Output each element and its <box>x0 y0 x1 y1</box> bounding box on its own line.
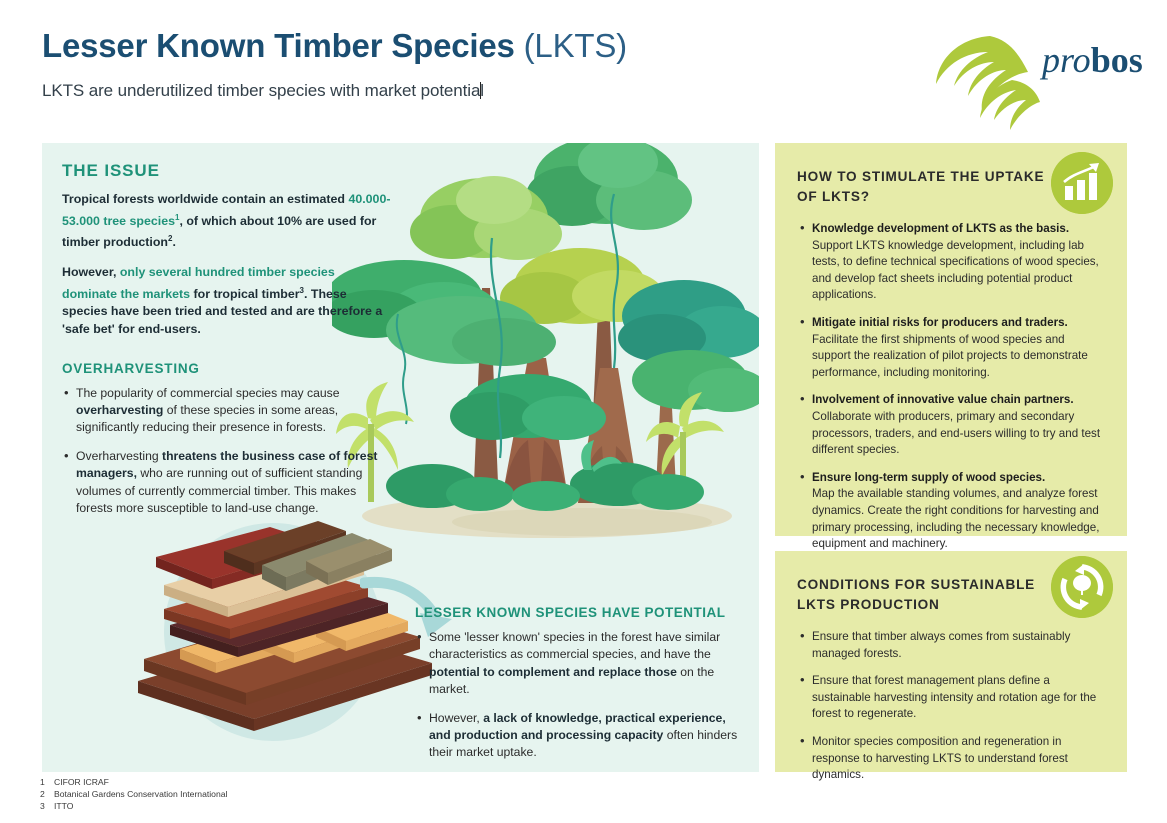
bullet-pre: Overharvesting <box>76 449 162 463</box>
bullet-bold: Involvement of innovative value chain pa… <box>812 393 1074 406</box>
overharvesting-bullet-list: The popularity of commercial species may… <box>62 385 392 518</box>
bullet-pre: The popularity of commercial species may… <box>76 386 340 400</box>
bullet-text: Monitor species composition and regenera… <box>812 735 1068 781</box>
probos-wordmark: probos <box>1042 40 1143 80</box>
uptake-bullet-list: Knowledge development of LKTS as the bas… <box>797 221 1103 553</box>
footnote-text: ITTO <box>54 801 73 811</box>
overharvesting-block: OVERHARVESTING The popularity of commerc… <box>62 361 392 518</box>
logo-text-bos: bos <box>1091 40 1143 80</box>
footnotes: 1CIFOR ICRAF 2Botanical Gardens Conserva… <box>40 776 540 813</box>
issue-paragraph-1: Tropical forests worldwide contain an es… <box>62 191 392 252</box>
list-item: Involvement of innovative value chain pa… <box>797 392 1103 458</box>
potential-block: LESSER KNOWN SPECIES HAVE POTENTIAL Some… <box>415 605 740 772</box>
footnote-number: 3 <box>40 800 54 812</box>
bullet-pre: Some 'lesser known' species in the fores… <box>429 630 720 661</box>
uptake-heading: HOW TO STIMULATE THE UPTAKE OF LKTS? <box>797 167 1047 207</box>
probos-swoosh-logo-icon <box>932 30 1042 138</box>
conditions-panel: CONDITIONS FOR SUSTAINABLE LKTS PRODUCTI… <box>775 551 1127 772</box>
potential-bullet-list: Some 'lesser known' species in the fores… <box>415 629 740 762</box>
bullet-text: Ensure that forest management plans defi… <box>812 674 1096 720</box>
footnote-item: 3ITTO <box>40 800 540 812</box>
list-item: Mitigate initial risks for producers and… <box>797 315 1103 381</box>
footnote-item: 2Botanical Gardens Conservation Internat… <box>40 788 540 800</box>
page-title-main: Lesser Known Timber Species <box>42 27 515 64</box>
issue-p2-pre: However, <box>62 265 120 279</box>
footnote-text: CIFOR ICRAF <box>54 777 109 787</box>
list-item: Some 'lesser known' species in the fores… <box>415 629 740 699</box>
footnote-item: 1CIFOR ICRAF <box>40 776 540 788</box>
list-item: Knowledge development of LKTS as the bas… <box>797 221 1103 304</box>
footnote-text: Botanical Gardens Conservation Internati… <box>54 789 227 799</box>
bullet-text: Ensure that timber always comes from sus… <box>812 630 1070 660</box>
conditions-bullet-list: Ensure that timber always comes from sus… <box>797 629 1103 784</box>
bullet-bold: potential to complement and replace thos… <box>429 665 677 679</box>
left-text-column: THE ISSUE Tropical forests worldwide con… <box>62 161 392 528</box>
bullet-text: Map the available standing volumes, and … <box>812 487 1099 550</box>
issue-p2-mid: for tropical timber <box>190 287 299 301</box>
list-item: Ensure that timber always comes from sus… <box>797 629 1103 662</box>
bullet-text: Support LKTS knowledge development, incl… <box>812 239 1099 302</box>
probos-logo[interactable]: probos <box>914 22 1129 137</box>
list-item: The popularity of commercial species may… <box>62 385 392 437</box>
footnote-number: 2 <box>40 788 54 800</box>
bullet-bold: overharvesting <box>76 403 163 417</box>
bullet-text: Facilitate the first shipments of wood s… <box>812 333 1088 379</box>
tropical-rainforest-illustration <box>332 143 759 548</box>
issue-paragraph-2: However, only several hundred timber spe… <box>62 264 392 339</box>
bullet-bold: Ensure long-term supply of wood species. <box>812 471 1045 484</box>
footnote-number: 1 <box>40 776 54 788</box>
conditions-heading: CONDITIONS FOR SUSTAINABLE LKTS PRODUCTI… <box>797 575 1047 615</box>
list-item: However, a lack of knowledge, practical … <box>415 710 740 762</box>
overharvesting-heading: OVERHARVESTING <box>62 361 392 376</box>
bullet-pre: However, <box>429 711 483 725</box>
text-cursor <box>480 82 481 99</box>
the-issue-heading: THE ISSUE <box>62 161 392 181</box>
uptake-panel: HOW TO STIMULATE THE UPTAKE OF LKTS? Kno… <box>775 143 1127 536</box>
bullet-bold: Mitigate initial risks for producers and… <box>812 316 1068 329</box>
list-item: Overharvesting threatens the business ca… <box>62 448 392 518</box>
page-subtitle-text: LKTS are underutilized timber species wi… <box>42 81 484 100</box>
logo-text-pro: pro <box>1042 40 1091 80</box>
issue-p1-pre: Tropical forests worldwide contain an es… <box>62 192 348 206</box>
potential-heading: LESSER KNOWN SPECIES HAVE POTENTIAL <box>415 605 740 620</box>
bullet-bold: Knowledge development of LKTS as the bas… <box>812 222 1069 235</box>
issue-p1-end: . <box>172 235 175 249</box>
page-title-abbrev: (LKTS) <box>524 27 627 64</box>
list-item: Monitor species composition and regenera… <box>797 734 1103 784</box>
bar-chart-growth-icon <box>1051 152 1113 214</box>
list-item: Ensure that forest management plans defi… <box>797 673 1103 723</box>
list-item: Ensure long-term supply of wood species.… <box>797 470 1103 553</box>
bullet-text: Collaborate with producers, primary and … <box>812 410 1100 456</box>
left-content-panel: THE ISSUE Tropical forests worldwide con… <box>42 143 759 772</box>
recycle-tree-icon <box>1051 556 1113 618</box>
